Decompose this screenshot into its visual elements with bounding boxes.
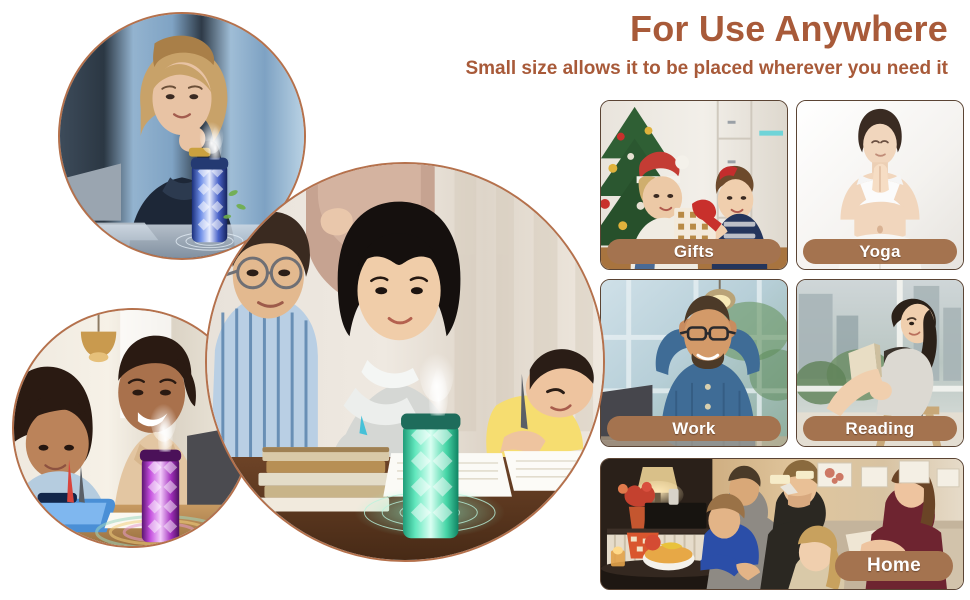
card-reading[interactable]: Reading [796, 279, 964, 447]
card-work[interactable]: Work [600, 279, 788, 447]
poster-canvas: For Use Anywhere Small size allows it to… [0, 0, 970, 600]
circle-photo-family-study [205, 162, 605, 562]
card-label-work: Work [607, 416, 781, 441]
page-title: For Use Anywhere [630, 8, 948, 50]
page-subtitle: Small size allows it to be placed wherev… [465, 58, 948, 80]
card-gifts[interactable]: Gifts [600, 100, 788, 270]
card-home[interactable]: Home [600, 458, 964, 590]
card-label-reading: Reading [803, 416, 957, 441]
card-yoga[interactable]: Yoga [796, 100, 964, 270]
card-label-yoga: Yoga [803, 239, 957, 264]
card-label-home: Home [835, 551, 953, 581]
family-study-scene [207, 164, 603, 560]
card-label-gifts: Gifts [607, 239, 781, 264]
